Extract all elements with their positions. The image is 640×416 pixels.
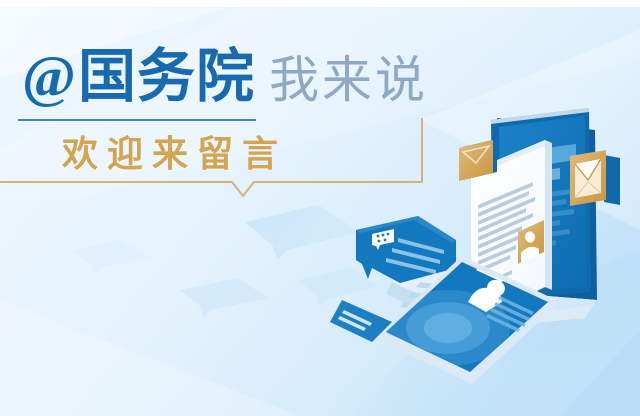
title-secondary-text: 我来说 [269, 54, 428, 106]
main-title: @ 国务院 我来说 [22, 48, 428, 106]
subtitle-text: 欢迎来留言 [62, 134, 287, 174]
title-underline [18, 119, 256, 121]
headline-block: @ 国务院 我来说 欢迎来留言 [0, 0, 460, 210]
banner-stage: @ 国务院 我来说 欢迎来留言 [0, 0, 640, 416]
at-symbol: @ [22, 48, 76, 106]
envelope-large [570, 150, 620, 206]
title-main-text: 国务院 [78, 48, 255, 106]
